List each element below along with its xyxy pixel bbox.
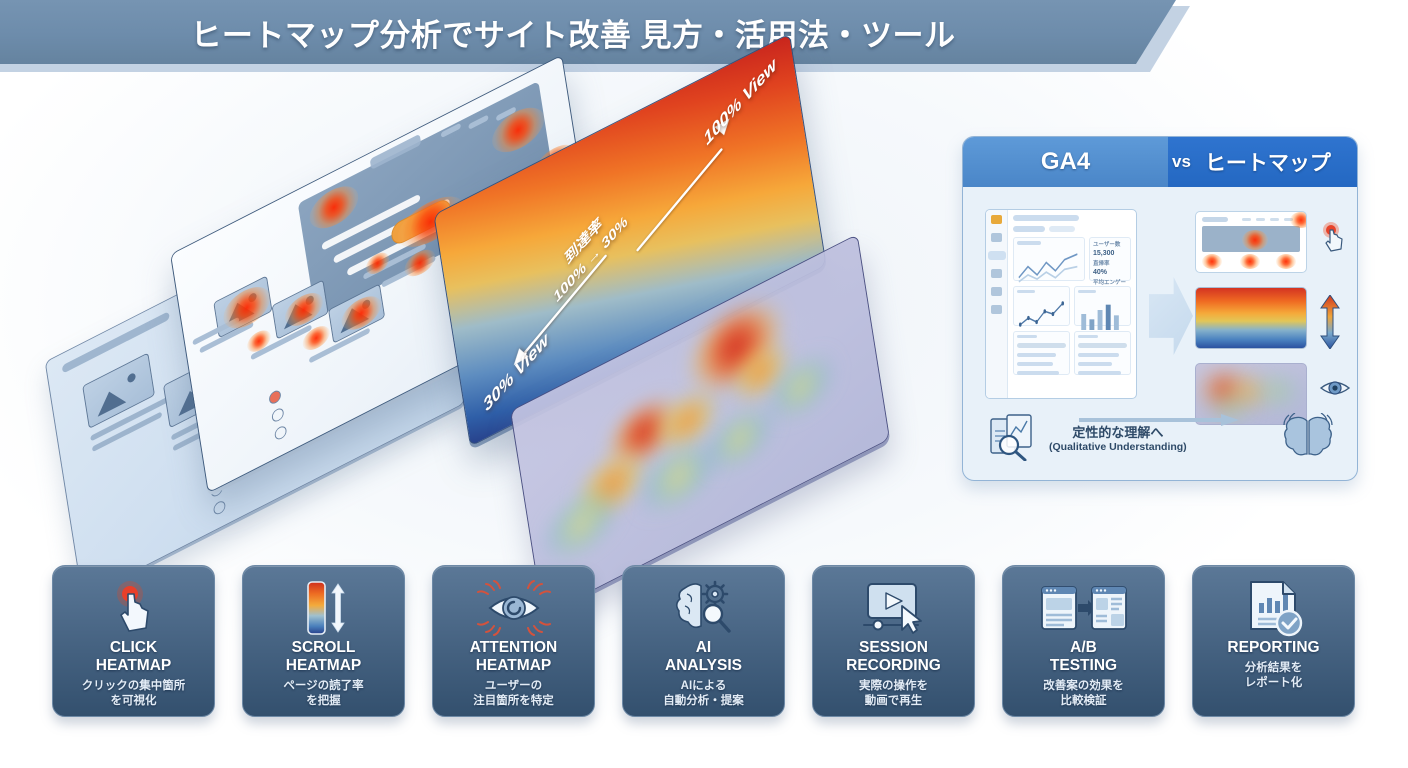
- panel-body: ユーザー数 15,300 直帰率 40% 平均エンゲージ 2:30: [963, 187, 1357, 481]
- card-sub-line1: 分析結果を: [1245, 661, 1303, 676]
- card-subtitle: ユーザーの 注目箇所を特定: [473, 679, 554, 709]
- click-hand-icon: [53, 579, 214, 637]
- card-sub-line1: 実際の操作を: [859, 679, 928, 694]
- ai-brain-gear-icon: [623, 579, 784, 637]
- brain-icon: [1281, 413, 1335, 461]
- card-sub-line2: 動画で再生: [859, 694, 928, 709]
- card-sub-line1: 改善案の効果を: [1043, 679, 1124, 694]
- card-sub-line1: ページの読了率: [283, 679, 363, 694]
- heat-spot: [1202, 254, 1222, 269]
- scatter-chart-card: [1013, 286, 1070, 326]
- line-chart-card: [1013, 237, 1085, 281]
- card-subtitle: 分析結果を レポート化: [1245, 661, 1303, 691]
- card-ab-testing[interactable]: A/B TESTING 改善案の効果を 比較検証: [1002, 565, 1165, 717]
- bar-chart-card: [1074, 286, 1131, 326]
- advertising-icon[interactable]: [991, 269, 1002, 278]
- card-ai-analysis[interactable]: AI ANALYSIS AIによる 自動分析・提案: [622, 565, 785, 717]
- ga4-label: GA4: [1041, 148, 1090, 176]
- footer-arrow-icon: [1079, 414, 1239, 426]
- card-subtitle: AIによる 自動分析・提案: [663, 679, 744, 709]
- card-title-line2: HEATMAP: [286, 657, 362, 675]
- footer-caption: 定性的な理解へ (Qualitative Understanding): [1049, 422, 1187, 453]
- heatmap-label: ヒートマップ: [1205, 147, 1331, 177]
- ga4-dashboard-mock: ユーザー数 15,300 直帰率 40% 平均エンゲージ 2:30: [985, 209, 1137, 399]
- feature-card-row: CLICK HEATMAP クリックの集中箇所 を可視化: [52, 565, 1360, 717]
- card-sub-line1: AIによる: [663, 679, 744, 694]
- card-sub-line2: 注目箇所を特定: [473, 694, 554, 709]
- scroll-heatmap-thumb: [1195, 287, 1307, 349]
- url-bar: [62, 311, 170, 374]
- card-subtitle: ページの読了率 を把握: [283, 679, 363, 709]
- up-arrow-shaft: [636, 148, 723, 252]
- scatter-chart: [1017, 298, 1066, 330]
- card-sub-line2: レポート化: [1245, 676, 1303, 691]
- kpi-label: ユーザー数: [1093, 241, 1127, 249]
- ab-test-icon: [1003, 579, 1164, 637]
- transition-arrow: [1149, 277, 1193, 355]
- card-title: A/B TESTING: [1050, 639, 1117, 675]
- analytics-icon[interactable]: [991, 215, 1002, 224]
- reports-icon[interactable]: [988, 251, 1006, 260]
- card-title: REPORTING: [1227, 639, 1319, 657]
- pagination-dots: [268, 388, 288, 447]
- line-chart: [1017, 250, 1081, 286]
- card-title-line2: HEATMAP: [96, 657, 172, 675]
- card-session-recording[interactable]: SESSION RECORDING 実際の操作を 動画で再生: [812, 565, 975, 717]
- panel-header-right: vs ヒートマップ: [1168, 137, 1357, 187]
- card-title-line1: A/B: [1050, 639, 1117, 657]
- card-title-line1: CLICK: [96, 639, 172, 657]
- vs-label: vs: [1172, 152, 1191, 172]
- panel-header: GA4 vs ヒートマップ: [963, 137, 1357, 187]
- scroll-arrow-icon: [1319, 295, 1341, 354]
- kpi-value: 40%: [1093, 268, 1127, 279]
- card-title-line2: HEATMAP: [470, 657, 558, 675]
- click-heatmap-thumb: [1195, 211, 1307, 273]
- card-subtitle: クリックの集中箇所 を可視化: [82, 679, 186, 709]
- card-title-line1: AI: [665, 639, 742, 657]
- header-banner: ヒートマップ分析でサイト改善 見方・活用法・ツール: [0, 0, 1408, 80]
- attention-eye-icon: [433, 579, 594, 637]
- banner-shape: ヒートマップ分析でサイト改善 見方・活用法・ツール: [0, 0, 1176, 64]
- card-title: CLICK HEATMAP: [96, 639, 172, 675]
- admin-icon[interactable]: [991, 305, 1002, 314]
- card-sub-line1: ユーザーの: [473, 679, 554, 694]
- heat-spot: [1276, 254, 1296, 269]
- footer-caption-en: (Qualitative Understanding): [1049, 441, 1187, 453]
- panel-footer: 定性的な理解へ (Qualitative Understanding): [987, 406, 1335, 468]
- card-scroll-heatmap[interactable]: SCROLL HEATMAP ページの読了率 を把握: [242, 565, 405, 717]
- dashboard-content: ユーザー数 15,300 直帰率 40% 平均エンゲージ 2:30: [1008, 210, 1136, 398]
- card-title: SESSION RECORDING: [846, 639, 941, 675]
- click-icon: [1319, 221, 1349, 258]
- isometric-illustration: 100% View 30% View 到達率 100% → 30%: [0, 80, 960, 540]
- card-reporting[interactable]: REPORTING 分析結果を レポート化: [1192, 565, 1355, 717]
- card-title: SCROLL HEATMAP: [286, 639, 362, 675]
- card-sub-line2: を可視化: [82, 694, 186, 709]
- report-document-icon: [1193, 579, 1354, 637]
- card-title-line1: ATTENTION: [470, 639, 558, 657]
- dashboard-title-bar: [1013, 215, 1079, 221]
- report-search-icon: [987, 413, 1043, 461]
- label-reach-rate: 到達率 100% → 30%: [545, 193, 630, 308]
- eye-icon: [1319, 377, 1351, 404]
- card-sub-line2: 比較検証: [1043, 694, 1124, 709]
- ga4-vs-heatmap-panel: GA4 vs ヒートマップ: [962, 136, 1358, 481]
- panel-header-left: GA4: [963, 137, 1168, 187]
- card-attention-heatmap[interactable]: ATTENTION HEATMAP ユーザーの 注目箇所を特定: [432, 565, 595, 717]
- session-play-icon: [813, 579, 974, 637]
- card-sub-line2: 自動分析・提案: [663, 694, 744, 709]
- heat-spot: [1240, 254, 1260, 269]
- explore-icon[interactable]: [991, 233, 1002, 242]
- scroll-gradient-icon: [243, 579, 404, 637]
- card-title-line2: TESTING: [1050, 657, 1117, 675]
- card-title-line2: ANALYSIS: [665, 657, 742, 675]
- dashboard-tab[interactable]: [1013, 226, 1045, 232]
- card-sub-line1: クリックの集中箇所: [82, 679, 186, 694]
- table-card: [1013, 331, 1070, 375]
- card-title-line1: SCROLL: [286, 639, 362, 657]
- card-click-heatmap[interactable]: CLICK HEATMAP クリックの集中箇所 を可視化: [52, 565, 215, 717]
- bar-chart: [1078, 298, 1127, 330]
- card-title-line2: RECORDING: [846, 657, 941, 675]
- card-title-line1: REPORTING: [1227, 639, 1319, 657]
- card-title-line1: SESSION: [846, 639, 941, 657]
- dashboard-sidebar: [986, 210, 1008, 398]
- card-title: ATTENTION HEATMAP: [470, 639, 558, 675]
- dashboard-tab[interactable]: [1049, 226, 1075, 232]
- page-title: ヒートマップ分析でサイト改善 見方・活用法・ツール: [190, 10, 985, 55]
- card-subtitle: 改善案の効果を 比較検証: [1043, 679, 1124, 709]
- card-subtitle: 実際の操作を 動画で再生: [859, 679, 928, 709]
- table-card: [1074, 331, 1131, 375]
- kpi-card: ユーザー数 15,300 直帰率 40% 平均エンゲージ 2:30: [1089, 237, 1131, 281]
- kpi-label: 直帰率: [1093, 260, 1127, 268]
- card-title: AI ANALYSIS: [665, 639, 742, 675]
- card-sub-line2: を把握: [283, 694, 363, 709]
- kpi-value: 15,300: [1093, 249, 1127, 260]
- image-placeholder: [82, 352, 155, 428]
- config-icon[interactable]: [991, 287, 1002, 296]
